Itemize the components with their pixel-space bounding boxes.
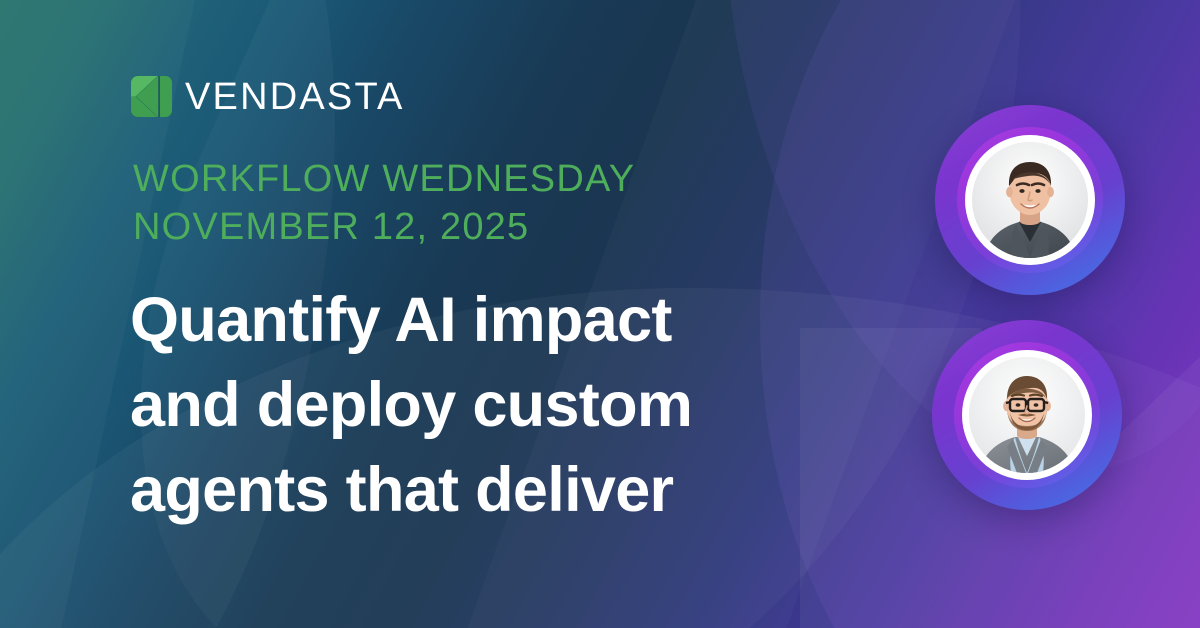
banner-content: VENDASTA WORKFLOW WEDNESDAY NOVEMBER 12,… bbox=[0, 0, 1200, 628]
headline-line-3: agents that deliver bbox=[130, 448, 870, 533]
vendasta-chevron-mark-icon bbox=[131, 76, 172, 117]
speaker-avatar-2 bbox=[932, 320, 1122, 510]
page-title: Quantify AI impact and deploy custom age… bbox=[130, 278, 870, 533]
promo-banner: VENDASTA WORKFLOW WEDNESDAY NOVEMBER 12,… bbox=[0, 0, 1200, 628]
speaker-avatar-1 bbox=[935, 105, 1125, 295]
speaker-photo-2 bbox=[969, 357, 1085, 473]
brand-logo: VENDASTA bbox=[131, 76, 405, 117]
brand-wordmark: VENDASTA bbox=[185, 78, 405, 116]
event-eyebrow: WORKFLOW WEDNESDAY NOVEMBER 12, 2025 bbox=[133, 155, 635, 251]
event-series-label: WORKFLOW WEDNESDAY bbox=[133, 158, 635, 200]
headline-line-2: and deploy custom bbox=[130, 363, 870, 448]
event-date-label: NOVEMBER 12, 2025 bbox=[133, 203, 635, 251]
headline-line-1: Quantify AI impact bbox=[130, 278, 870, 363]
speaker-photo-1 bbox=[972, 142, 1088, 258]
